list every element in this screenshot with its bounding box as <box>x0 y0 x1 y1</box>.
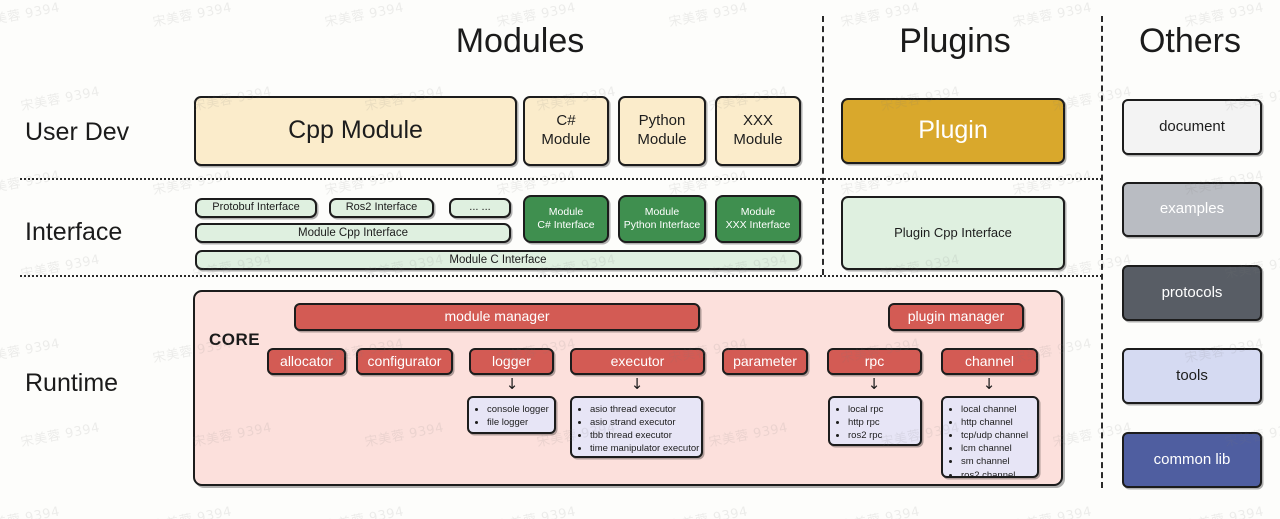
column-header-modules: Modules <box>330 22 710 61</box>
executor-details-box: asio thread executorasio strand executor… <box>570 396 703 458</box>
watermark-text: 宋美蓉 9394 <box>323 501 405 519</box>
watermark-text: 宋美蓉 9394 <box>323 165 405 199</box>
watermark-text: 宋美蓉 9394 <box>151 165 233 199</box>
rpc-details-list: local rpchttp rpcros2 rpc <box>834 403 914 442</box>
csharp-module-box[interactable]: C# Module <box>523 96 609 166</box>
parameter-box[interactable]: parameter <box>722 348 808 375</box>
others-tools-box[interactable]: tools <box>1122 348 1262 404</box>
watermark-text: 宋美蓉 9394 <box>495 501 577 519</box>
logger-details-list: console loggerfile logger <box>473 403 548 429</box>
list-item: time manipulator executor <box>590 442 695 455</box>
module-manager-box[interactable]: module manager <box>294 303 700 331</box>
divider-userdev-interface <box>20 178 1102 180</box>
watermark-text: 宋美蓉 9394 <box>0 333 61 367</box>
rpc-details-box: local rpchttp rpcros2 rpc <box>828 396 922 446</box>
row-label-runtime: Runtime <box>25 369 118 398</box>
watermark-text: 宋美蓉 9394 <box>667 165 749 199</box>
rpc-arrow-icon: ↓ <box>851 377 897 392</box>
watermark-text: 宋美蓉 9394 <box>667 501 749 519</box>
list-item: http channel <box>961 416 1031 429</box>
channel-details-list: local channelhttp channeltcp/udp channel… <box>947 403 1031 482</box>
module-cpp-interface-box[interactable]: Module Cpp Interface <box>195 223 511 243</box>
plugin-box[interactable]: Plugin <box>841 98 1065 164</box>
list-item: ros2 rpc <box>848 429 914 442</box>
watermark-text: 宋美蓉 9394 <box>151 501 233 519</box>
watermark-text: 宋美蓉 9394 <box>0 165 61 199</box>
list-item: console logger <box>487 403 548 416</box>
logger-details-box: console loggerfile logger <box>467 396 556 434</box>
divider-interface-runtime <box>20 275 1102 277</box>
protobuf-interface-box[interactable]: Protobuf Interface <box>195 198 317 218</box>
watermark-text: 宋美蓉 9394 <box>495 165 577 199</box>
watermark-text: 宋美蓉 9394 <box>839 501 921 519</box>
list-item: file logger <box>487 416 548 429</box>
module-csharp-interface-box[interactable]: Module C# Interface <box>523 195 609 243</box>
others-document-box[interactable]: document <box>1122 99 1262 155</box>
watermark-text: 宋美蓉 9394 <box>839 165 921 199</box>
column-header-plugins: Plugins <box>830 22 1080 61</box>
xxx-module-box[interactable]: XXX Module <box>715 96 801 166</box>
others-commonlib-box[interactable]: common lib <box>1122 432 1262 488</box>
watermark-text: 宋美蓉 9394 <box>19 81 101 115</box>
list-item: ros2 channel <box>961 469 1031 482</box>
divider-modules-plugins <box>822 16 824 275</box>
channel-box[interactable]: channel <box>941 348 1038 375</box>
list-item: local channel <box>961 403 1031 416</box>
watermark-text: 宋美蓉 9394 <box>1183 501 1265 519</box>
module-xxx-interface-box[interactable]: Module XXX Interface <box>715 195 801 243</box>
watermark-text: 宋美蓉 9394 <box>0 501 61 519</box>
plugin-manager-box[interactable]: plugin manager <box>888 303 1024 331</box>
column-header-others: Others <box>1110 22 1270 61</box>
list-item: lcm channel <box>961 442 1031 455</box>
logger-arrow-icon: ↓ <box>489 377 535 392</box>
executor-arrow-icon: ↓ <box>614 377 660 392</box>
row-label-user-dev: User Dev <box>25 118 129 147</box>
watermark-text: 宋美蓉 9394 <box>19 417 101 451</box>
plugin-cpp-interface-box[interactable]: Plugin Cpp Interface <box>841 196 1065 270</box>
ros2-interface-box[interactable]: Ros2 Interface <box>329 198 434 218</box>
rpc-box[interactable]: rpc <box>827 348 922 375</box>
list-item: asio strand executor <box>590 416 695 429</box>
list-item: tcp/udp channel <box>961 429 1031 442</box>
core-label: CORE <box>209 330 260 350</box>
divider-plugins-others <box>1101 16 1103 488</box>
logger-box[interactable]: logger <box>469 348 554 375</box>
watermark-text: 宋美蓉 9394 <box>1011 165 1093 199</box>
allocator-box[interactable]: allocator <box>267 348 346 375</box>
python-module-box[interactable]: Python Module <box>618 96 706 166</box>
others-protocols-box[interactable]: protocols <box>1122 265 1262 321</box>
list-item: http rpc <box>848 416 914 429</box>
list-item: local rpc <box>848 403 914 416</box>
module-c-interface-box[interactable]: Module C Interface <box>195 250 801 270</box>
configurator-box[interactable]: configurator <box>356 348 453 375</box>
ellipsis-interface-box[interactable]: ... ... <box>449 198 511 218</box>
list-item: asio thread executor <box>590 403 695 416</box>
channel-details-box: local channelhttp channeltcp/udp channel… <box>941 396 1039 478</box>
cpp-module-box[interactable]: Cpp Module <box>194 96 517 166</box>
executor-box[interactable]: executor <box>570 348 705 375</box>
watermark-text: 宋美蓉 9394 <box>0 0 61 30</box>
watermark-text: 宋美蓉 9394 <box>1051 417 1133 451</box>
watermark-text: 宋美蓉 9394 <box>19 249 101 283</box>
watermark-text: 宋美蓉 9394 <box>151 0 233 30</box>
architecture-diagram: 宋美蓉 9394宋美蓉 9394宋美蓉 9394宋美蓉 9394宋美蓉 9394… <box>0 0 1280 519</box>
list-item: tbb thread executor <box>590 429 695 442</box>
others-examples-box[interactable]: examples <box>1122 182 1262 237</box>
row-label-interface: Interface <box>25 218 122 247</box>
watermark-text: 宋美蓉 9394 <box>1011 501 1093 519</box>
executor-details-list: asio thread executorasio strand executor… <box>576 403 695 455</box>
module-python-interface-box[interactable]: Module Python Interface <box>618 195 706 243</box>
list-item: sm channel <box>961 455 1031 468</box>
channel-arrow-icon: ↓ <box>966 377 1012 392</box>
